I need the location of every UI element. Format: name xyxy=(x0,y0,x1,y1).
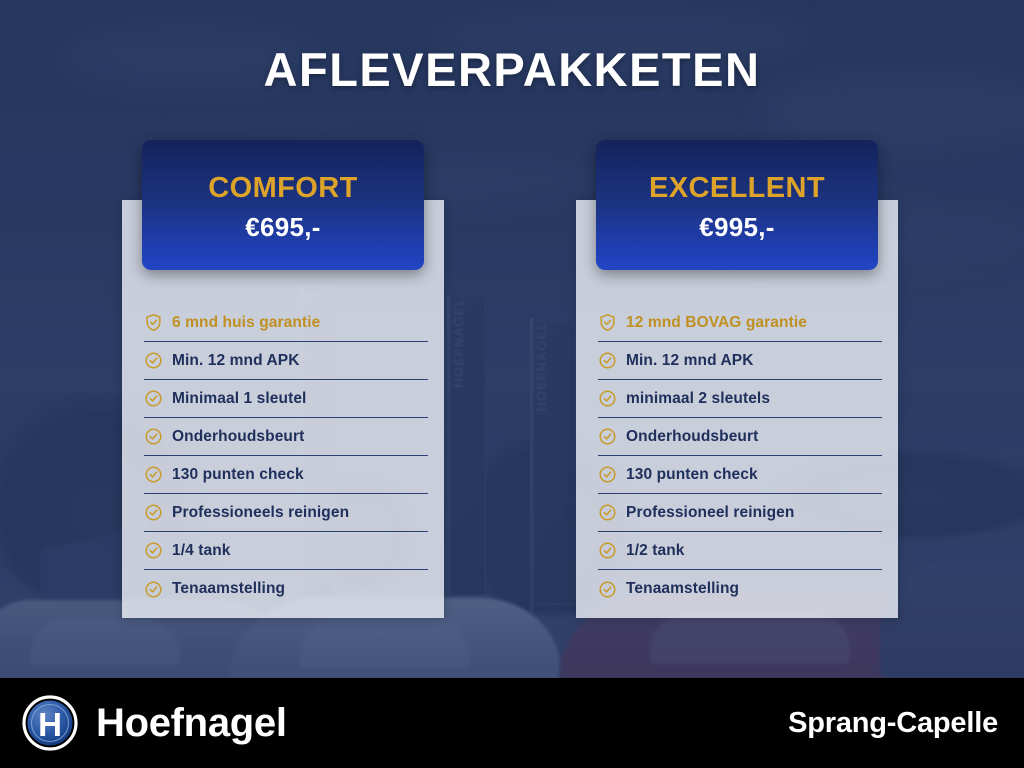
package-card-comfort: COMFORT €695,- 6 mnd huis garantie Min. … xyxy=(122,200,444,618)
feature-label: minimaal 2 sleutels xyxy=(626,390,770,408)
feature-label: Tenaamstelling xyxy=(626,580,739,598)
feature-item: Tenaamstelling xyxy=(144,570,428,608)
package-card-excellent: EXCELLENT €995,- 12 mnd BOVAG garantie M… xyxy=(576,200,898,618)
feature-label: Min. 12 mnd APK xyxy=(626,352,754,370)
circle-check-icon xyxy=(598,389,617,408)
feature-item: 12 mnd BOVAG garantie xyxy=(598,304,882,342)
feature-label: Onderhoudsbeurt xyxy=(626,428,758,446)
feature-label: 130 punten check xyxy=(172,466,304,484)
feature-label: 130 punten check xyxy=(626,466,758,484)
circle-check-icon xyxy=(598,427,617,446)
circle-check-icon xyxy=(144,503,163,522)
feature-item: 130 punten check xyxy=(144,456,428,494)
package-price: €695,- xyxy=(245,212,321,243)
package-header-comfort: COMFORT €695,- xyxy=(142,140,424,270)
feature-item: Tenaamstelling xyxy=(598,570,882,608)
feature-item: 1/2 tank xyxy=(598,532,882,570)
feature-list-excellent: 12 mnd BOVAG garantie Min. 12 mnd APK mi… xyxy=(598,304,882,608)
feature-label: Professioneel reinigen xyxy=(626,504,794,522)
circle-check-icon xyxy=(598,503,617,522)
package-price: €995,- xyxy=(699,212,775,243)
feature-item: minimaal 2 sleutels xyxy=(598,380,882,418)
logo-svg: H xyxy=(22,695,78,751)
page-title: AFLEVERPAKKETEN xyxy=(0,42,1024,97)
feature-label: 1/2 tank xyxy=(626,542,685,560)
feature-label: 1/4 tank xyxy=(172,542,231,560)
feature-item: 130 punten check xyxy=(598,456,882,494)
circle-check-icon xyxy=(598,351,617,370)
circle-check-icon xyxy=(144,580,163,599)
circle-check-icon xyxy=(598,580,617,599)
hoefnagel-logo-icon: H xyxy=(22,695,78,751)
feature-item: Min. 12 mnd APK xyxy=(144,342,428,380)
feature-label: Tenaamstelling xyxy=(172,580,285,598)
feature-item: Professioneels reinigen xyxy=(144,494,428,532)
package-title: EXCELLENT xyxy=(649,173,825,205)
feature-item: 6 mnd huis garantie xyxy=(144,304,428,342)
feature-label: Onderhoudsbeurt xyxy=(172,428,304,446)
shield-check-icon xyxy=(144,313,163,332)
feature-item: Professioneel reinigen xyxy=(598,494,882,532)
circle-check-icon xyxy=(144,351,163,370)
feature-label: 12 mnd BOVAG garantie xyxy=(626,314,807,332)
feature-label: Minimaal 1 sleutel xyxy=(172,390,306,408)
footer-bar: H Hoefnagel Sprang-Capelle xyxy=(0,678,1024,768)
feature-item: Onderhoudsbeurt xyxy=(144,418,428,456)
feature-list-comfort: 6 mnd huis garantie Min. 12 mnd APK Mini… xyxy=(144,304,428,608)
circle-check-icon xyxy=(144,389,163,408)
brand-name: Hoefnagel xyxy=(96,701,287,746)
feature-label: 6 mnd huis garantie xyxy=(172,314,320,332)
circle-check-icon xyxy=(598,465,617,484)
circle-check-icon xyxy=(144,465,163,484)
package-title: COMFORT xyxy=(208,173,357,205)
shield-check-icon xyxy=(598,313,617,332)
circle-check-icon xyxy=(598,541,617,560)
feature-item: Onderhoudsbeurt xyxy=(598,418,882,456)
feature-item: Min. 12 mnd APK xyxy=(598,342,882,380)
brand-block: H Hoefnagel xyxy=(22,695,287,751)
svg-text:H: H xyxy=(38,706,62,743)
location-label: Sprang-Capelle xyxy=(788,707,1002,740)
package-header-excellent: EXCELLENT €995,- xyxy=(596,140,878,270)
circle-check-icon xyxy=(144,541,163,560)
feature-label: Professioneels reinigen xyxy=(172,504,349,522)
circle-check-icon xyxy=(144,427,163,446)
slide-root: HOEFNAGEL HOEFNAGEL HOEFNAGEL AFLEVERPAK… xyxy=(0,0,1024,768)
feature-item: Minimaal 1 sleutel xyxy=(144,380,428,418)
feature-label: Min. 12 mnd APK xyxy=(172,352,300,370)
feature-item: 1/4 tank xyxy=(144,532,428,570)
